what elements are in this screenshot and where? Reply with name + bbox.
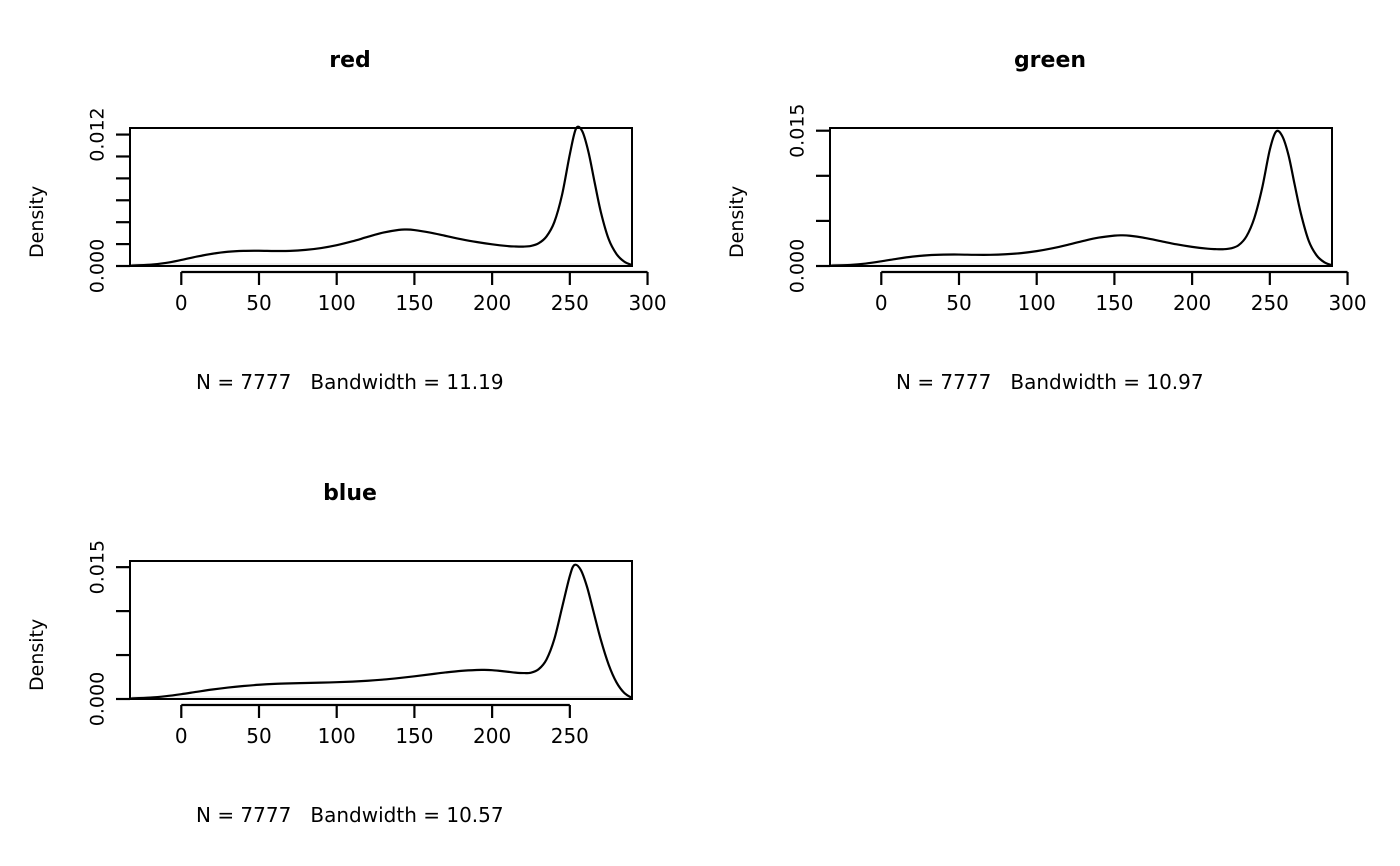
plot-area-green: 0.0000.015050100150200250300 [700, 0, 1400, 433]
density-curve-blue [130, 565, 632, 699]
x-tick-label: 50 [946, 291, 971, 315]
panel-subtitle-green: N = 7777 Bandwidth = 10.97 [896, 370, 1204, 394]
panel-subtitle-red: N = 7777 Bandwidth = 11.19 [196, 370, 504, 394]
plot-box-border [130, 128, 632, 266]
empty-panel [700, 433, 1400, 866]
density-curve-green [830, 131, 1332, 266]
x-tick-label: 0 [875, 291, 888, 315]
x-tick-label: 250 [551, 724, 589, 748]
x-tick-label: 150 [395, 291, 433, 315]
y-tick-label: 0.015 [787, 104, 809, 158]
x-tick-label: 200 [473, 724, 511, 748]
y-tick-label: 0.000 [87, 239, 109, 293]
plot-box-border [830, 128, 1332, 266]
x-tick-label: 100 [318, 291, 356, 315]
x-tick-label: 0 [175, 291, 188, 315]
y-tick-label: 0.015 [87, 540, 109, 594]
density-panel-green: green Density 0.0000.0150501001502002503… [700, 0, 1400, 433]
x-tick-label: 150 [395, 724, 433, 748]
panel-subtitle-blue: N = 7777 Bandwidth = 10.57 [196, 803, 504, 827]
plot-area-blue: 0.0000.015050100150200250 [0, 433, 700, 866]
y-tick-label: 0.000 [87, 672, 109, 726]
x-tick-label: 300 [628, 291, 666, 315]
y-tick-label: 0.012 [87, 107, 109, 161]
x-tick-label: 0 [175, 724, 188, 748]
x-tick-label: 200 [473, 291, 511, 315]
plot-area-red: 0.0000.012050100150200250300 [0, 0, 700, 433]
x-tick-label: 300 [1328, 291, 1366, 315]
x-tick-label: 50 [246, 291, 271, 315]
x-tick-label: 250 [551, 291, 589, 315]
x-tick-label: 50 [246, 724, 271, 748]
x-tick-label: 200 [1173, 291, 1211, 315]
x-tick-label: 100 [1018, 291, 1056, 315]
density-curve-red [130, 127, 632, 266]
x-tick-label: 250 [1251, 291, 1289, 315]
density-panel-red: red Density 0.0000.012050100150200250300… [0, 0, 700, 433]
x-tick-label: 100 [318, 724, 356, 748]
x-tick-label: 150 [1095, 291, 1133, 315]
y-tick-label: 0.000 [787, 239, 809, 293]
density-panel-blue: blue Density 0.0000.015050100150200250 N… [0, 433, 700, 866]
